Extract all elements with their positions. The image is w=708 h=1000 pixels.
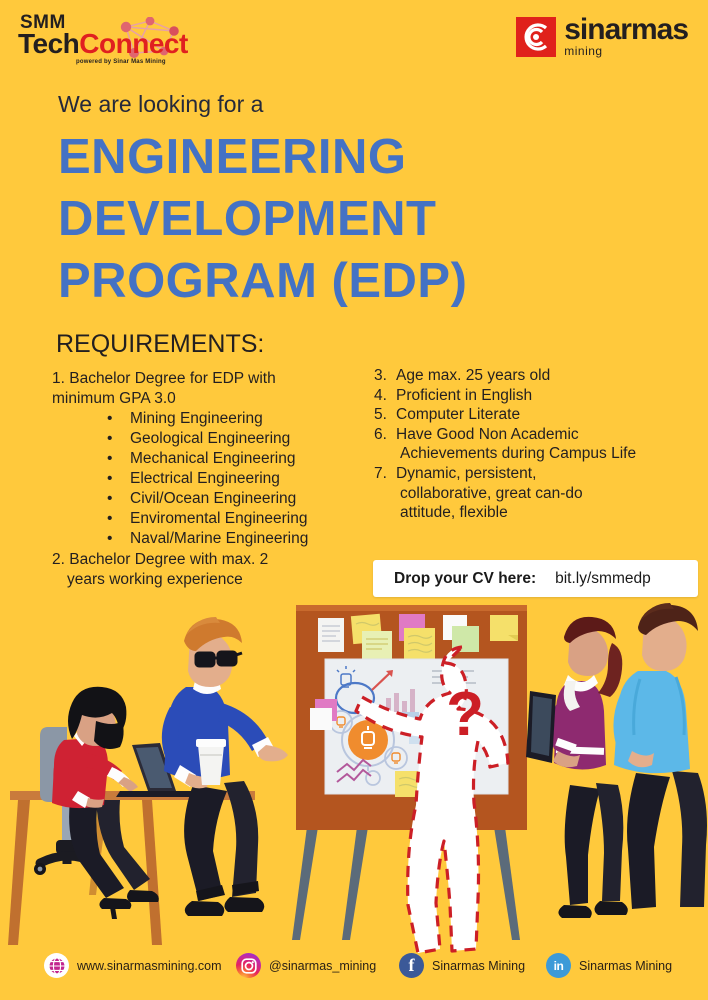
footer-instagram[interactable]: @sinarmas_mining [236, 953, 376, 978]
linkedin-icon: in [546, 953, 571, 978]
list-item: Electrical Engineering [52, 469, 372, 489]
item-number: 7. [374, 464, 387, 484]
footer-linkedin-label: Sinarmas Mining [579, 959, 672, 973]
list-item: Civil/Ocean Engineering [52, 489, 372, 509]
item-number: 4. [374, 386, 387, 406]
footer-instagram-label: @sinarmas_mining [269, 959, 376, 973]
footer-linkedin[interactable]: in Sinarmas Mining [546, 953, 672, 978]
item-number: 6. [374, 425, 387, 445]
requirement-item-2: 2. Bachelor Degree with max. 2 years wor… [52, 550, 372, 589]
item-text-cont: Achievements during Campus Life [396, 444, 694, 464]
footer-facebook-label: Sinarmas Mining [432, 959, 525, 973]
list-item: 3. Age max. 25 years old [374, 366, 694, 386]
title-line-3: PROGRAM (EDP) [58, 250, 678, 312]
requirement-item-2-line2: years working experience [52, 570, 372, 590]
instagram-icon [236, 953, 261, 978]
poster-header: SMM TechConnect powered by Sinar Mas Min… [0, 0, 708, 78]
requirement-item-1-line1: 1. Bachelor Degree for EDP with [52, 370, 276, 387]
smm-logo-connect: Connect [79, 28, 188, 59]
title-line-1: ENGINEERING [58, 126, 678, 188]
list-item: Mining Engineering [52, 409, 372, 429]
footer-website[interactable]: www.sinarmasmining.com [44, 953, 221, 978]
sinarmas-swirl-icon [516, 17, 556, 57]
list-item: 5. Computer Literate [374, 405, 694, 425]
man-lightblue-shirt [613, 603, 707, 909]
man-blue-sweater [162, 617, 288, 916]
facebook-icon: f [399, 953, 424, 978]
item-text: Dynamic, persistent, [396, 465, 536, 482]
footer-website-label: www.sinarmasmining.com [77, 959, 221, 973]
sinarmas-wordmark: sinarmas mining [564, 17, 688, 58]
sinarmas-sub: mining [564, 44, 688, 58]
smm-logo-line2: TechConnect [18, 28, 188, 60]
requirement-item-1: 1. Bachelor Degree for EDP with minimum … [52, 369, 372, 408]
requirements-heading: REQUIREMENTS: [56, 330, 264, 359]
requirement-item-1-line2: minimum GPA 3.0 [52, 390, 176, 407]
poster-footer: www.sinarmasmining.com @sinarmas_mining … [0, 950, 708, 984]
list-item: 7. Dynamic, persistent, collaborative, g… [374, 464, 694, 523]
list-item: Enviromental Engineering [52, 509, 372, 529]
smm-logo-tagline: powered by Sinar Mas Mining [76, 59, 166, 65]
sinarmas-mining-logo: sinarmas mining [516, 16, 688, 58]
list-item: 6. Have Good Non Academic Achievements d… [374, 425, 694, 464]
item-number: 5. [374, 405, 387, 425]
footer-facebook[interactable]: f Sinarmas Mining [399, 953, 525, 978]
item-text: Have Good Non Academic [396, 426, 579, 443]
list-item: 4. Proficient in English [374, 386, 694, 406]
major-list: Mining Engineering Geological Engineerin… [52, 409, 372, 549]
page-title: ENGINEERING DEVELOPMENT PROGRAM (EDP) [58, 126, 678, 312]
kicker-text: We are looking for a [58, 91, 263, 118]
poster-root: SMM TechConnect powered by Sinar Mas Min… [0, 0, 708, 1000]
sinarmas-name: sinarmas [564, 17, 688, 43]
smm-techconnect-logo: SMM TechConnect powered by Sinar Mas Min… [18, 12, 193, 70]
item-text: Proficient in English [396, 387, 532, 404]
item-number: 3. [374, 366, 387, 386]
item-text: Age max. 25 years old [396, 367, 550, 384]
woman-purple-top [526, 617, 628, 918]
requirement-item-2-line1: 2. Bachelor Degree with max. 2 [52, 551, 268, 568]
drop-cv-banner[interactable]: Drop your CV here: bit.ly/smmedp [373, 560, 698, 597]
requirements-numbered-list: 3. Age max. 25 years old 4. Proficient i… [374, 366, 694, 523]
requirements-column-left: 1. Bachelor Degree for EDP with minimum … [52, 369, 372, 589]
list-item: Mechanical Engineering [52, 449, 372, 469]
question-mark-label: ? [446, 680, 484, 749]
list-item: Naval/Marine Engineering [52, 529, 372, 549]
linkedin-glyph: in [554, 959, 564, 973]
list-item: Geological Engineering [52, 429, 372, 449]
facebook-glyph: f [409, 956, 415, 975]
drop-cv-label: Drop your CV here: [373, 570, 536, 588]
globe-icon [44, 953, 69, 978]
smm-logo-tech: Tech [18, 28, 79, 59]
item-text-cont: attitude, flexible [396, 503, 694, 523]
drop-cv-url[interactable]: bit.ly/smmedp [536, 570, 651, 588]
title-line-2: DEVELOPMENT [58, 188, 678, 250]
item-text: Computer Literate [396, 406, 520, 423]
team-illustration: ? [0, 595, 708, 955]
item-text-cont: collaborative, great can-do [396, 484, 694, 504]
requirements-column-right: 3. Age max. 25 years old 4. Proficient i… [374, 366, 694, 523]
